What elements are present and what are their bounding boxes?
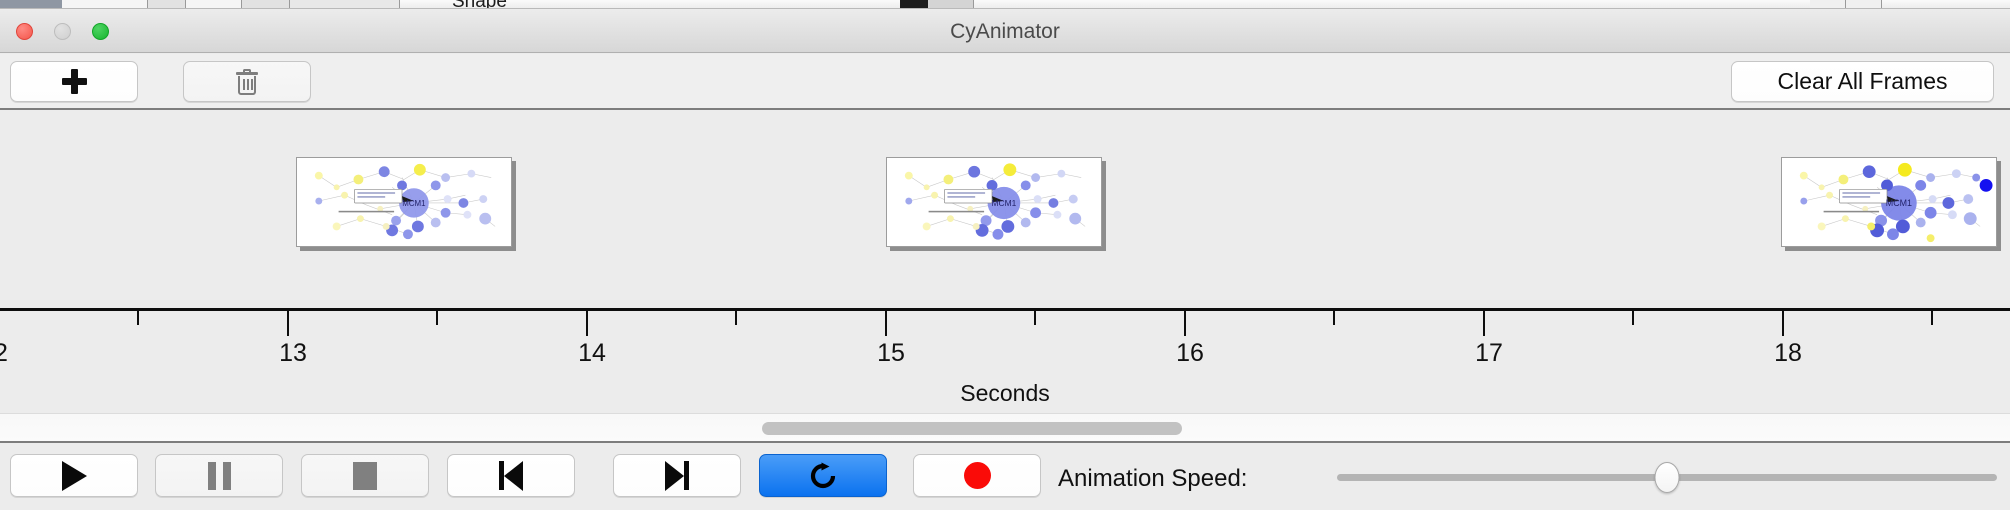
pause-button[interactable] [155, 454, 283, 497]
timeline-horizontal-scrollbar[interactable] [0, 413, 2010, 443]
window-title: CyAnimator [0, 20, 2010, 44]
ruler-tick-minor [436, 311, 438, 325]
ruler-tick-minor [735, 311, 737, 325]
animation-speed-label: Animation Speed: [1058, 465, 1247, 493]
bg-segment [1846, 0, 1882, 9]
record-icon [964, 462, 991, 489]
slider-thumb[interactable] [1655, 462, 1680, 493]
bg-segment [0, 0, 62, 9]
timeline-panel[interactable]: MCM1 [0, 110, 2010, 413]
stop-icon [353, 462, 377, 490]
ruler-tick-major [1184, 311, 1186, 336]
title-bar: CyAnimator [0, 9, 2010, 53]
ruler-tick-minor [1034, 311, 1036, 325]
loop-button[interactable] [759, 454, 887, 497]
play-icon [62, 461, 87, 491]
stop-button[interactable] [301, 454, 429, 497]
trash-icon [236, 69, 258, 95]
pause-icon [208, 462, 231, 490]
ruler-tick-major [1782, 311, 1784, 336]
ruler-axis-title: Seconds [0, 380, 2010, 407]
ruler-tick-minor [137, 311, 139, 325]
delete-frame-button[interactable] [183, 61, 311, 102]
ruler-label: 13 [279, 339, 307, 368]
ruler-label: 14 [578, 339, 606, 368]
ruler-tick-minor [1333, 311, 1335, 325]
scrollbar-thumb[interactable] [762, 422, 1182, 435]
timeline-ruler[interactable]: 12 13 14 15 16 17 18 Seconds [0, 308, 2010, 413]
ruler-label: 15 [877, 339, 905, 368]
loop-icon [808, 461, 838, 491]
clear-all-frames-button[interactable]: Clear All Frames [1731, 61, 1994, 102]
previous-frame-button[interactable] [447, 454, 575, 497]
ruler-tick-major [287, 311, 289, 336]
bg-window-label: Shape [452, 0, 507, 9]
ruler-label: 16 [1176, 339, 1204, 368]
network-thumbnail-image: MCM1 [887, 158, 1101, 246]
ruler-tick-minor [1931, 311, 1933, 325]
keyframe-thumbnail[interactable]: MCM1 [296, 157, 512, 247]
ruler-tick-major [885, 311, 887, 336]
toolbar: Clear All Frames [0, 54, 2010, 110]
keyframe-thumbnail[interactable]: MCM1 [1781, 157, 1997, 247]
ruler-tick-minor [1632, 311, 1634, 325]
play-button[interactable] [10, 454, 138, 497]
ruler-tick-major [1483, 311, 1485, 336]
svg-text:MCM1: MCM1 [402, 199, 425, 208]
bg-segment [900, 0, 928, 9]
bg-segment [1810, 0, 1846, 9]
ruler-label: 17 [1475, 339, 1503, 368]
bg-segment [62, 0, 148, 9]
bg-segment [242, 0, 290, 9]
svg-text:MCM1: MCM1 [992, 198, 1017, 208]
plus-icon [62, 69, 87, 94]
animation-speed-slider[interactable] [1337, 474, 1997, 481]
bg-segment [148, 0, 186, 9]
svg-text:MCM1: MCM1 [1886, 198, 1912, 208]
record-button[interactable] [913, 454, 1041, 497]
ruler-label: 18 [1774, 339, 1802, 368]
playback-toolbar: Animation Speed: [0, 445, 2010, 510]
ruler-tick-major [586, 311, 588, 336]
background-window-strip: Shape [0, 0, 2010, 9]
bg-segment [928, 0, 974, 9]
network-thumbnail-image: MCM1 [297, 158, 511, 246]
clear-all-frames-label: Clear All Frames [1778, 68, 1948, 95]
skip-next-icon [665, 461, 689, 491]
network-thumbnail-image: MCM1 [1782, 158, 1996, 246]
ruler-axis-line [0, 308, 2010, 311]
bg-segment [186, 0, 242, 9]
ruler-label: 12 [0, 339, 8, 368]
keyframe-thumbnail[interactable]: MCM1 [886, 157, 1102, 247]
next-frame-button[interactable] [613, 454, 741, 497]
add-frame-button[interactable] [10, 61, 138, 102]
bg-segment [290, 0, 400, 9]
skip-previous-icon [499, 461, 523, 491]
keyframe-track[interactable]: MCM1 [0, 110, 2010, 308]
